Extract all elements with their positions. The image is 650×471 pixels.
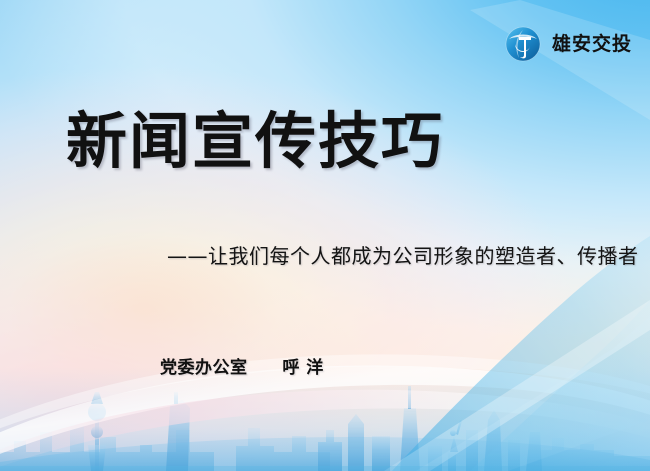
- presenter-line: 党委办公室 呼 洋: [160, 353, 324, 378]
- bottom-edge-band: [0, 466, 650, 471]
- background-decoration-layer: [0, 0, 650, 471]
- xiongan-jiaotou-globe-icon: [503, 24, 543, 64]
- slide-subtitle: ——让我们每个人都成为公司形象的塑造者、传播者: [167, 240, 639, 269]
- brand-logo-block: 雄安交投: [503, 24, 632, 64]
- presentation-title-slide: 雄安交投 新闻宣传技巧 ——让我们每个人都成为公司形象的塑造者、传播者 党委办公…: [0, 0, 650, 471]
- presenter-department: 党委办公室: [160, 358, 248, 378]
- brand-name: 雄安交投: [552, 35, 632, 54]
- slide-title: 新闻宣传技巧: [66, 108, 444, 175]
- presenter-name: 呼 洋: [282, 358, 323, 378]
